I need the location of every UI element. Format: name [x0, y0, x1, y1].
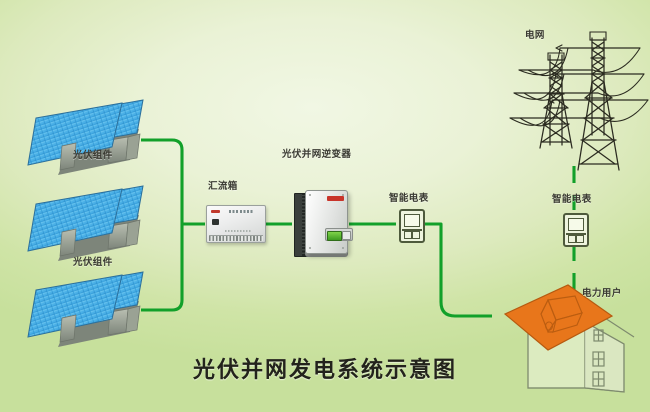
label-pv-array-2: 光伏组件 — [73, 258, 113, 268]
inverter-lcd-screen — [327, 231, 342, 241]
smart-meter-left[interactable] — [399, 209, 425, 243]
inverter-screw-bl — [309, 247, 311, 249]
meter-display-right — [568, 218, 584, 231]
meter-terminal-left-1 — [404, 231, 412, 239]
inverter-screw-br — [342, 247, 344, 249]
inverter-button[interactable] — [342, 231, 351, 240]
label-pv-array-1: 光伏组件 — [73, 151, 113, 161]
label-grid: 电网 — [525, 31, 545, 41]
combiner-terminal-strip — [209, 235, 263, 241]
combiner-switch-knob[interactable] — [212, 219, 219, 225]
label-meter-right: 智能电表 — [552, 195, 592, 205]
meter-display-left — [404, 214, 420, 227]
inverter-front-panel — [305, 190, 348, 254]
inverter-screw-tr — [342, 194, 344, 196]
label-meter-left: 智能电表 — [389, 194, 429, 204]
meter-terminal-left-2 — [412, 231, 420, 239]
combiner-face-text — [229, 210, 253, 213]
diagram-canvas: 光伏组件 光伏组件 汇流箱 光伏并网逆变器 智能电表 智能电表 电网 电力用户 … — [0, 0, 650, 412]
label-combiner-box: 汇流箱 — [208, 182, 238, 192]
inverter-device[interactable] — [294, 190, 346, 256]
inverter-brand-logo — [327, 196, 344, 201]
meter-terminal-right-2 — [576, 235, 584, 243]
combiner-sub-text — [225, 230, 251, 232]
inverter-display-panel[interactable] — [325, 228, 353, 241]
smart-meter-right[interactable] — [563, 213, 589, 247]
combiner-brand-logo — [211, 210, 220, 213]
inverter-screw-tl — [309, 194, 311, 196]
label-inverter: 光伏并网逆变器 — [282, 150, 351, 160]
label-consumer: 电力用户 — [582, 289, 622, 299]
diagram-title: 光伏并网发电系统示意图 — [0, 352, 650, 384]
combiner-box[interactable] — [206, 205, 266, 243]
meter-terminal-right-1 — [568, 235, 576, 243]
